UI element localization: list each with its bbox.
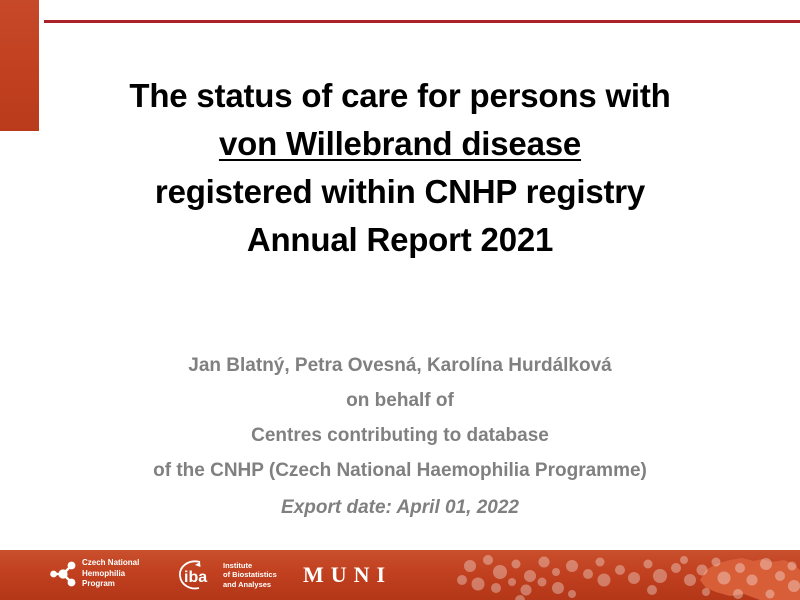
corner-accent-block [0, 0, 39, 131]
logo-iba-line-1: Institute [223, 561, 277, 571]
subtitle-block: Jan Blatný, Petra Ovesná, Karolína Hurdá… [40, 348, 760, 528]
logo-czech-national-hemophilia-program: Czech National Hemophilia Program [50, 558, 139, 590]
header-rule [44, 20, 800, 23]
title-line-4: Annual Report 2021 [40, 216, 760, 264]
page-title: The status of care for persons with von … [40, 72, 760, 264]
export-date-line: Export date: April 01, 2022 [40, 488, 760, 528]
title-line-3: registered within CNHP registry [40, 168, 760, 216]
iba-swoosh-icon: iba [178, 559, 218, 591]
title-line-2: von Willebrand disease [40, 120, 760, 168]
on-behalf-of-line: on behalf of [40, 383, 760, 418]
authors-line: Jan Blatný, Petra Ovesná, Karolína Hurdá… [40, 348, 760, 383]
logo-cnhp-line-2: Hemophilia [82, 569, 139, 580]
logo-iba-text: Institute of Biostatistics and Analyses [223, 561, 277, 590]
logo-iba-line-2: of Biostatistics [223, 570, 277, 580]
logo-cnhp-line-1: Czech National [82, 558, 139, 569]
title-line-1: The status of care for persons with [40, 72, 760, 120]
svg-text:iba: iba [184, 569, 207, 586]
molecule-node-icon [50, 559, 76, 589]
title-slide: The status of care for persons with von … [0, 0, 800, 600]
logo-cnhp-line-3: Program [82, 579, 139, 590]
czech-republic-map-icon [700, 558, 800, 600]
logo-iba-line-3: and Analyses [223, 580, 277, 590]
logo-muni: MUNI [303, 564, 392, 586]
programme-line: of the CNHP (Czech National Haemophilia … [40, 453, 760, 488]
footer-bar: Czech National Hemophilia Program iba In… [0, 550, 800, 600]
logo-cnhp-text: Czech National Hemophilia Program [82, 558, 139, 590]
logo-institute-of-biostatistics-and-analyses: iba Institute of Biostatistics and Analy… [178, 559, 277, 591]
centres-line: Centres contributing to database [40, 418, 760, 453]
